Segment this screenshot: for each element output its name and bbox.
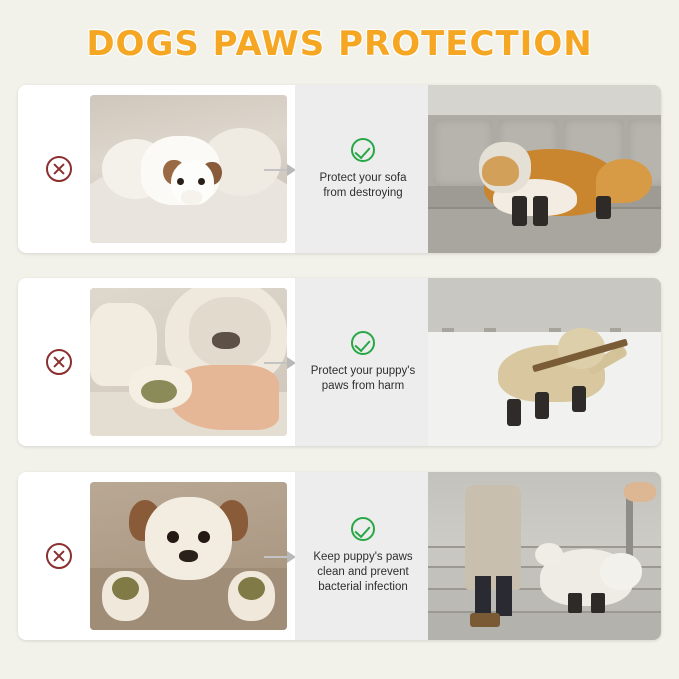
check-circle-icon [351, 517, 375, 541]
infographic-page: DOGS PAWS PROTECTION Protect your sofa f… [0, 0, 679, 679]
page-title: DOGS PAWS PROTECTION [0, 24, 679, 64]
cross-circle-icon [46, 543, 72, 569]
caption-block: Protect your puppy's paws from harm [301, 278, 425, 446]
caption-block: Keep puppy's paws clean and prevent bact… [301, 472, 425, 640]
cross-circle-icon [46, 349, 72, 375]
solution-photo [428, 85, 661, 253]
caption-line: from destroying [323, 186, 402, 201]
solution-photo [428, 472, 661, 640]
caption-line: bacterial infection [318, 580, 408, 595]
feature-row: Protect your puppy's paws from harm [18, 278, 661, 446]
caption-line: Protect your sofa [320, 171, 407, 186]
feature-row: Protect your sofa from destroying [18, 85, 661, 253]
caption-line: Protect your puppy's [311, 364, 415, 379]
caption-block: Protect your sofa from destroying [301, 85, 425, 253]
problem-photo [90, 288, 287, 436]
check-circle-icon [351, 138, 375, 162]
solution-photo [428, 278, 661, 446]
feature-row: Keep puppy's paws clean and prevent bact… [18, 472, 661, 640]
caption-line: Keep puppy's paws [313, 550, 412, 565]
caption-line: clean and prevent [317, 565, 408, 580]
check-circle-icon [351, 331, 375, 355]
problem-photo [90, 482, 287, 630]
cross-circle-icon [46, 156, 72, 182]
caption-line: paws from harm [322, 379, 404, 394]
problem-photo [90, 95, 287, 243]
